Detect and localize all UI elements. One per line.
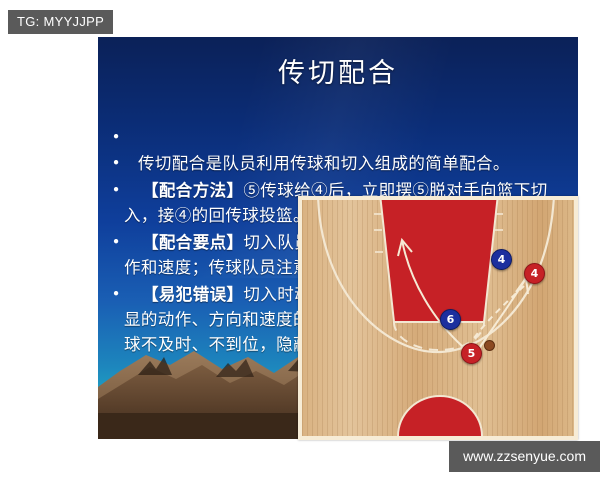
bullet-heading-keypoints: 【配合要点】 <box>142 233 243 252</box>
bullet-text-intro: 传切配合是队员利用传球和切入组成的简单配合。 <box>124 151 560 176</box>
bullet-dot-icon: • <box>108 282 124 306</box>
bullet-heading-method: 【配合方法】 <box>142 181 243 200</box>
list-item: • 传切配合是队员利用传球和切入组成的简单配合。 <box>108 151 560 176</box>
basketball-icon <box>484 340 495 351</box>
court-markings <box>302 200 574 436</box>
tg-watermark: TG: MYYJJPP <box>8 10 113 34</box>
slide-title: 传切配合 <box>98 51 578 90</box>
basketball-court-diagram-image: 4 6 4 5 <box>298 196 578 440</box>
player-token-offense-4: 4 <box>524 263 545 284</box>
player-token-defender-4: 4 <box>491 249 512 270</box>
bullet-dot-icon: • <box>108 151 124 175</box>
list-item: • <box>108 125 560 149</box>
bullet-heading-mistakes: 【易犯错误】 <box>142 285 243 304</box>
player-token-defender-6: 6 <box>440 309 461 330</box>
player-token-offense-5: 5 <box>461 343 482 364</box>
bullet-dot-icon: • <box>108 230 124 254</box>
court-surface: 4 6 4 5 <box>302 200 574 436</box>
bullet-dot-icon: • <box>108 125 124 149</box>
site-watermark: www.zzsenyue.com <box>449 441 600 472</box>
bullet-dot-icon: • <box>108 178 124 202</box>
